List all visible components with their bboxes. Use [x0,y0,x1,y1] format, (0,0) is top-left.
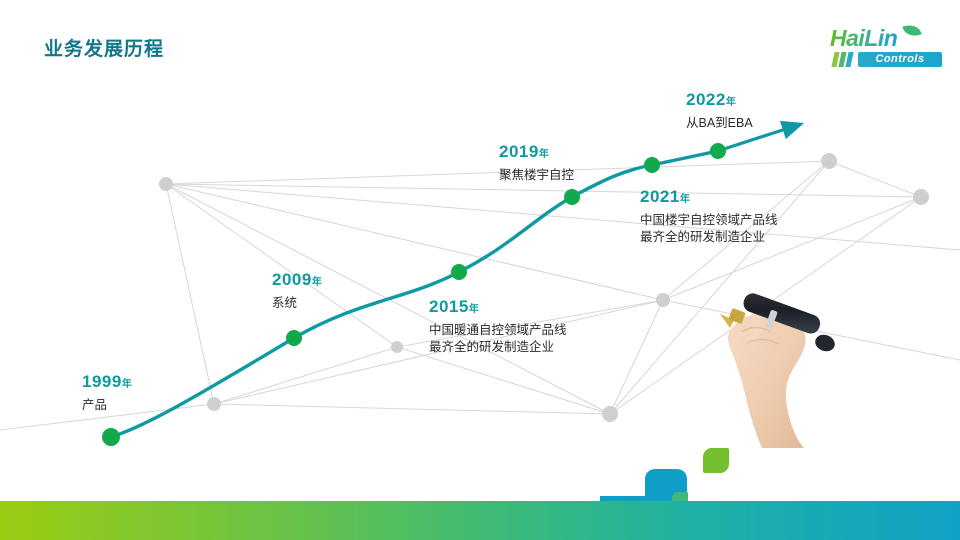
milestone-description: 产品 [82,397,132,414]
milestone-year: 2019年 [499,142,574,162]
milestone-description: 中国楼宇自控领域产品线 最齐全的研发制造企业 [640,212,778,246]
milestone-description: 聚焦楼宇自控 [499,167,574,184]
milestone-description: 从BA到EBA [686,115,753,132]
milestone-dot-2021 [644,157,660,173]
milestone-dot-1999 [102,428,120,446]
milestone-description: 中国暖通自控领域产品线 最齐全的研发制造企业 [429,322,567,356]
milestone-2021: 2021年 中国楼宇自控领域产品线 最齐全的研发制造企业 [640,187,778,246]
milestone-year: 2015年 [429,297,567,317]
milestone-description: 系统 [272,295,322,312]
hand-holding-pen-icon [712,288,882,448]
milestone-dot-2022 [710,143,726,159]
milestone-year: 1999年 [82,372,132,392]
milestone-dot-2015 [451,264,467,280]
milestone-2022: 2022年 从BA到EBA [686,90,753,132]
milestone-year: 2009年 [272,270,322,290]
milestone-2015: 2015年 中国暖通自控领域产品线 最齐全的研发制造企业 [429,297,567,356]
milestone-year: 2021年 [640,187,778,207]
milestone-year: 2022年 [686,90,753,110]
milestone-2019: 2019年 聚焦楼宇自控 [499,142,574,184]
milestone-1999: 1999年 产品 [82,372,132,414]
footer-leaf-large-icon [703,448,729,473]
timeline-graphic [0,0,960,540]
slide-canvas: 业务发展历程 HaiLin Controls [0,0,960,540]
footer-gradient-bar [0,501,960,540]
milestone-dot-2019 [564,189,580,205]
milestone-dot-2009 [286,330,302,346]
milestone-2009: 2009年 系统 [272,270,322,312]
